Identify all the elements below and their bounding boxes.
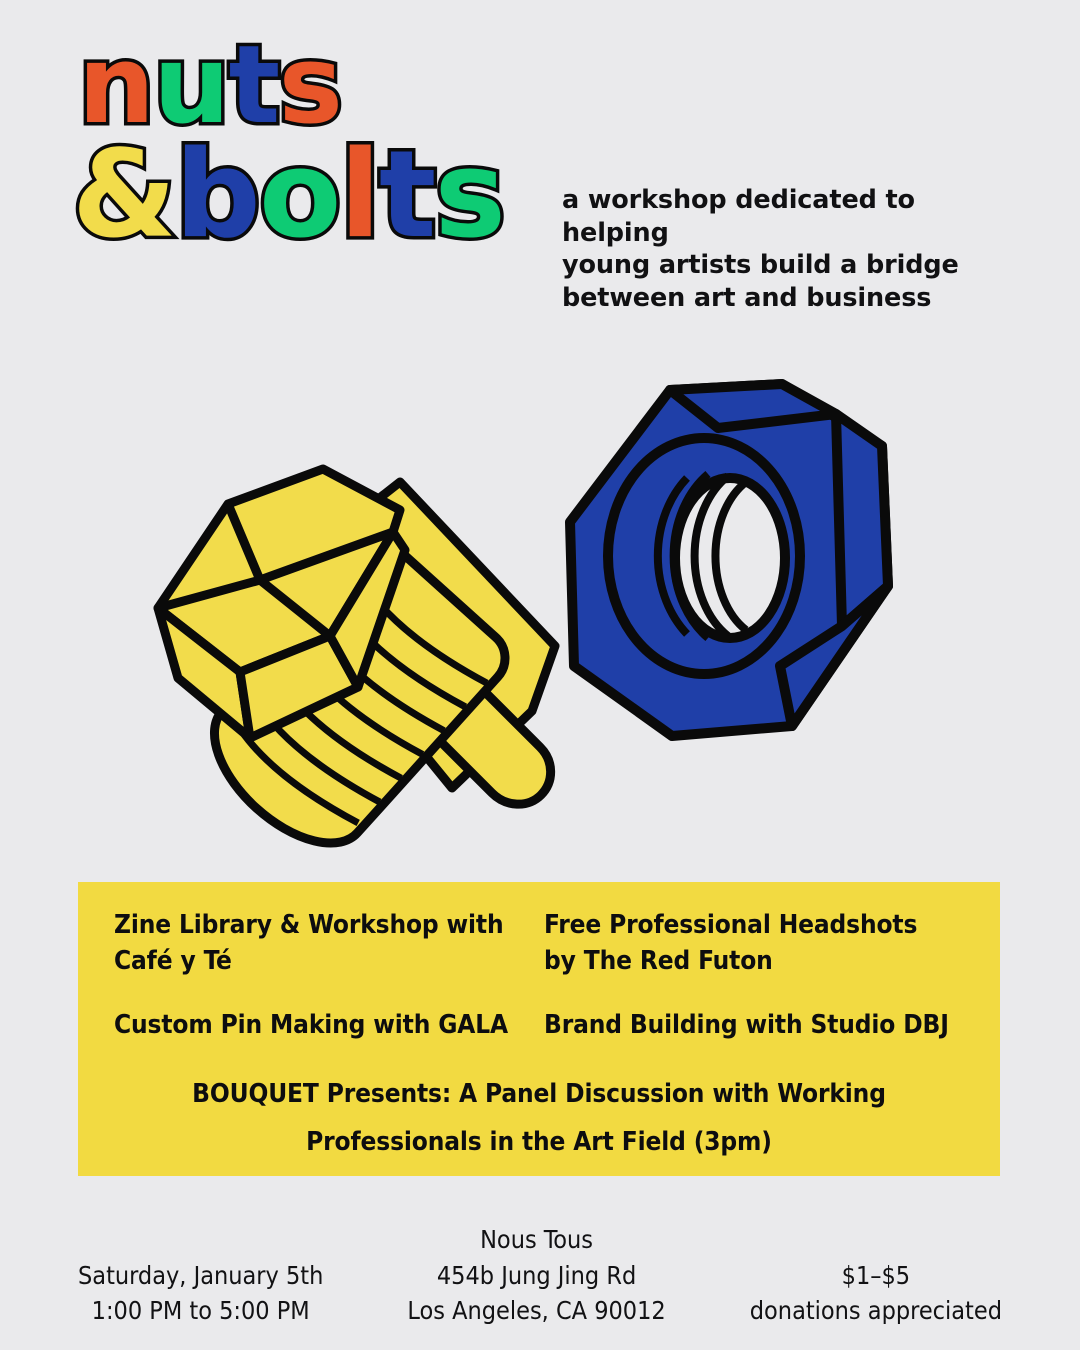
footer-venue-city: Los Angeles, CA 90012 bbox=[407, 1293, 665, 1329]
subtitle-line-3: between art and business bbox=[562, 282, 1002, 315]
panel-discussion-line-2: Professionals in the Art Field (3pm) bbox=[78, 1118, 1000, 1166]
workshop-item: Brand Building with Studio DBJ bbox=[544, 1008, 974, 1044]
subtitle-line-1: a workshop dedicated to helping bbox=[562, 184, 1002, 249]
title-line-nuts: nuts bbox=[78, 36, 598, 136]
title-bolts-letter-2: b bbox=[175, 126, 259, 265]
footer-price-note: donations appreciated bbox=[750, 1293, 1002, 1329]
workshop-list: Zine Library & Workshop with Café y Té F… bbox=[114, 908, 974, 1044]
footer-price: $1–$5 donations appreciated bbox=[750, 1258, 1002, 1329]
panel-discussion: BOUQUET Presents: A Panel Discussion wit… bbox=[78, 1070, 1000, 1166]
panel-discussion-line-1: BOUQUET Presents: A Panel Discussion wit… bbox=[78, 1070, 1000, 1118]
footer-venue: Nous Tous 454b Jung Jing Rd Los Angeles,… bbox=[407, 1222, 665, 1329]
workshop-item: Zine Library & Workshop with Café y Té bbox=[114, 908, 544, 980]
title-bolts-letter-3: o bbox=[259, 126, 340, 265]
title-bolts-letter-4: l bbox=[340, 126, 379, 265]
workshop-panel: Zine Library & Workshop with Café y Té F… bbox=[78, 882, 1000, 1176]
footer-venue-name: Nous Tous bbox=[407, 1222, 665, 1258]
workshop-item: Free Professional Headshots by The Red F… bbox=[544, 908, 974, 980]
poster-root: nuts &bolts a workshop dedicated to help… bbox=[0, 0, 1080, 1350]
footer-price-range: $1–$5 bbox=[750, 1258, 1002, 1294]
footer-venue-street: 454b Jung Jing Rd bbox=[407, 1258, 665, 1294]
workshop-item: Custom Pin Making with GALA bbox=[114, 1008, 544, 1044]
title-line-bolts: &bolts bbox=[72, 140, 598, 252]
footer-date-line-1: Saturday, January 5th bbox=[78, 1258, 323, 1294]
poster-title: nuts &bolts bbox=[78, 36, 598, 252]
title-bolts-letter-6: s bbox=[435, 126, 505, 265]
title-bolts-letter-5: t bbox=[379, 126, 435, 265]
nut bbox=[570, 384, 888, 736]
nuts-and-bolts-illustration bbox=[100, 318, 910, 858]
title-bolts-letter-1: & bbox=[72, 126, 175, 265]
poster-subtitle: a workshop dedicated to helping young ar… bbox=[562, 184, 1002, 315]
subtitle-line-2: young artists build a bridge bbox=[562, 249, 1002, 282]
footer-date: Saturday, January 5th 1:00 PM to 5:00 PM bbox=[78, 1258, 323, 1329]
bolt bbox=[158, 469, 517, 858]
poster-footer: Saturday, January 5th 1:00 PM to 5:00 PM… bbox=[0, 1222, 1080, 1329]
footer-date-line-2: 1:00 PM to 5:00 PM bbox=[78, 1293, 323, 1329]
